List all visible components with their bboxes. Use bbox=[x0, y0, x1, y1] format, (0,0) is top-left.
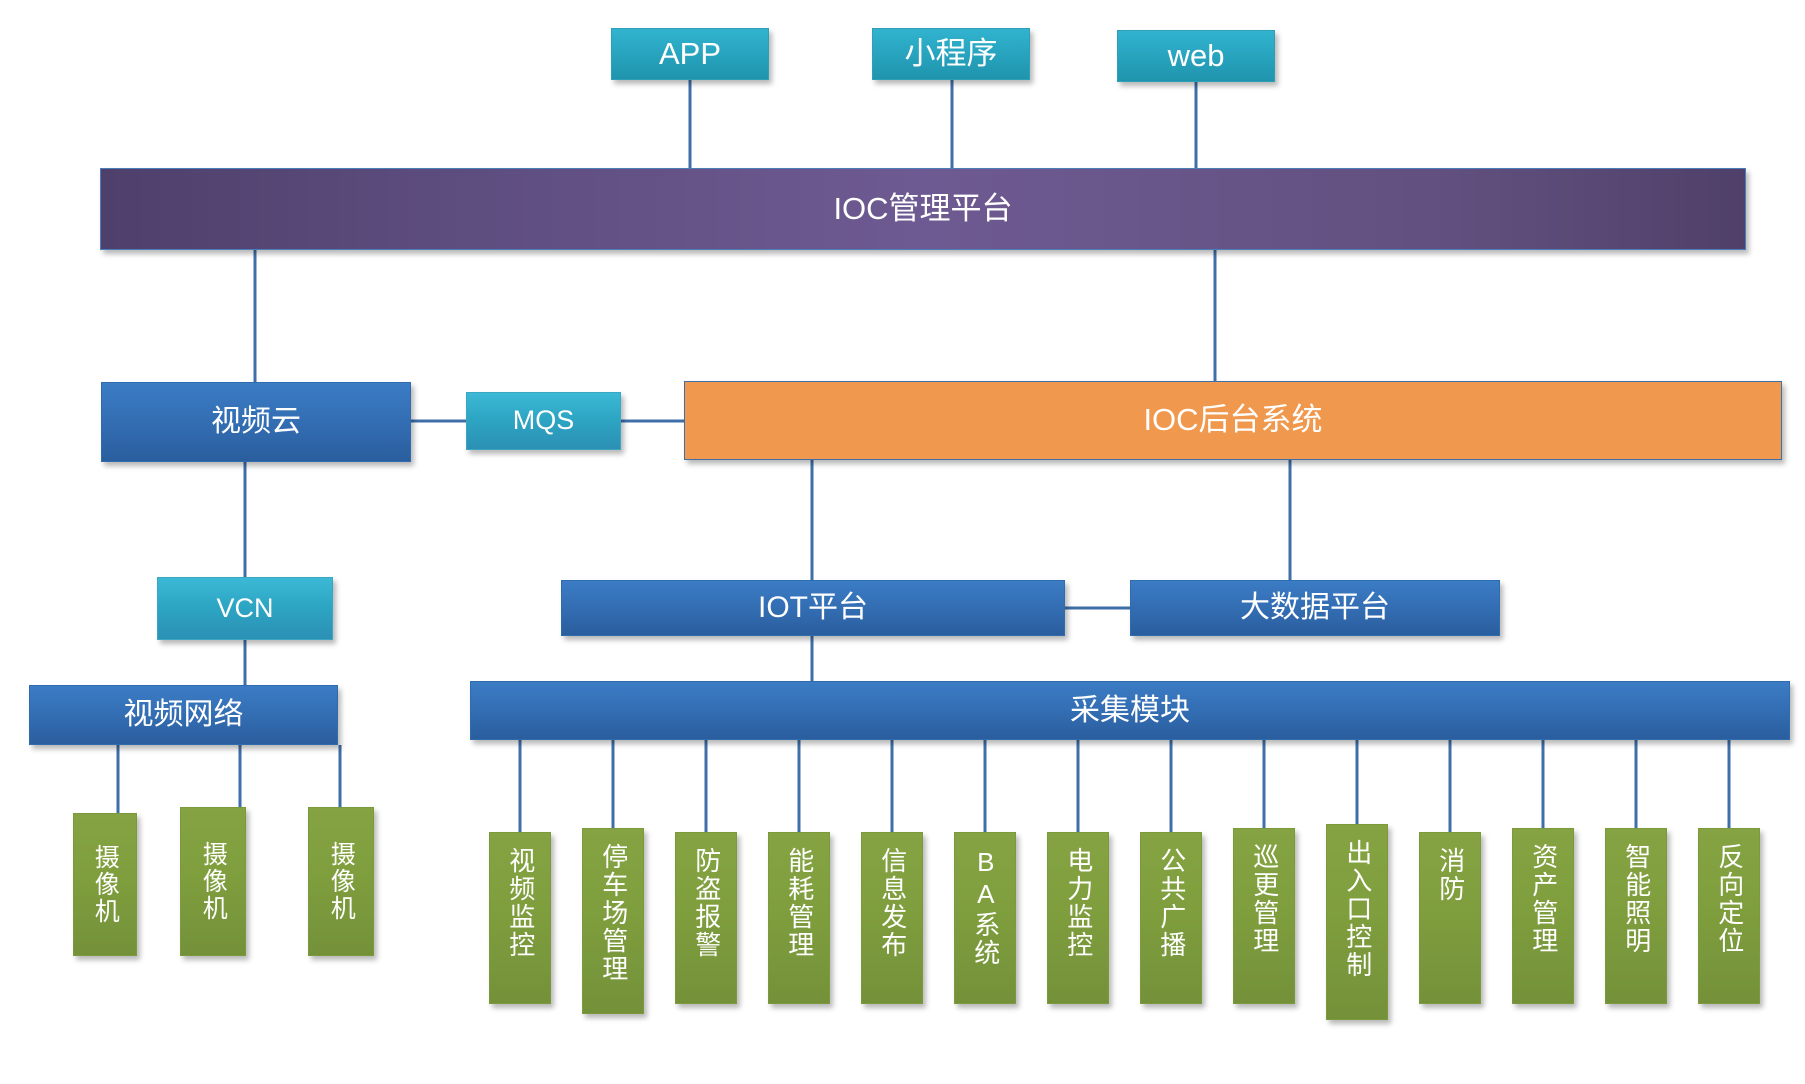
video-cloud-label: 视频云 bbox=[211, 404, 301, 439]
vcn-label: VCN bbox=[216, 593, 273, 625]
client-node-app-label: APP bbox=[659, 36, 721, 73]
video-network-node[interactable]: 视频网络 bbox=[29, 685, 338, 745]
ioc-management-platform[interactable]: IOC管理平台 bbox=[100, 168, 1746, 250]
subsystem-label: 电力监控 bbox=[1064, 847, 1092, 959]
client-node-miniprogram-label: 小程序 bbox=[905, 36, 998, 73]
subsystem-node-power-monitoring[interactable]: 电力监控 bbox=[1047, 832, 1109, 1004]
ioc-backend-label: IOC后台系统 bbox=[1143, 402, 1322, 439]
collection-module-label: 采集模块 bbox=[1070, 693, 1190, 728]
subsystem-label: 信息发布 bbox=[878, 847, 906, 959]
vcn-node[interactable]: VCN bbox=[157, 577, 333, 640]
camera-node-3[interactable]: 摄像机 bbox=[308, 807, 374, 956]
subsystem-label: 反向定位 bbox=[1715, 843, 1743, 955]
subsystem-label: 视频监控 bbox=[506, 847, 534, 959]
mqs-label: MQS bbox=[513, 405, 575, 437]
subsystem-node-parking-management[interactable]: 停车场管理 bbox=[582, 828, 644, 1014]
subsystem-label: 消防 bbox=[1436, 847, 1464, 903]
subsystem-label: 出入口控制 bbox=[1343, 839, 1371, 979]
subsystem-label: 能耗管理 bbox=[785, 847, 813, 959]
collection-module-node[interactable]: 采集模块 bbox=[470, 681, 1790, 740]
subsystem-label: 巡更管理 bbox=[1250, 843, 1278, 955]
architecture-diagram: APP 小程序 web IOC管理平台 视频云 MQS IOC后台系统 VCN … bbox=[0, 0, 1805, 1084]
subsystem-node-smart-lighting[interactable]: 智能照明 bbox=[1605, 828, 1667, 1004]
client-node-miniprogram[interactable]: 小程序 bbox=[872, 28, 1030, 80]
bigdata-platform-label: 大数据平台 bbox=[1240, 590, 1390, 625]
client-node-app[interactable]: APP bbox=[611, 28, 769, 80]
ioc-management-platform-label: IOC管理平台 bbox=[833, 191, 1012, 228]
subsystem-node-access-control[interactable]: 出入口控制 bbox=[1326, 824, 1388, 1020]
video-cloud-node[interactable]: 视频云 bbox=[101, 382, 411, 462]
video-network-label: 视频网络 bbox=[124, 697, 244, 732]
client-node-web-label: web bbox=[1168, 38, 1225, 75]
camera-node-2[interactable]: 摄像机 bbox=[180, 807, 246, 956]
subsystem-node-patrol-management[interactable]: 巡更管理 bbox=[1233, 828, 1295, 1004]
subsystem-label: 智能照明 bbox=[1622, 843, 1650, 955]
iot-platform-label: IOT平台 bbox=[758, 590, 868, 625]
subsystem-node-ba-system[interactable]: BA系统 bbox=[954, 832, 1016, 1004]
subsystem-node-video-surveillance[interactable]: 视频监控 bbox=[489, 832, 551, 1004]
mqs-node[interactable]: MQS bbox=[466, 392, 621, 450]
subsystem-label: 停车场管理 bbox=[599, 843, 627, 983]
bigdata-platform-node[interactable]: 大数据平台 bbox=[1130, 580, 1500, 636]
client-node-web[interactable]: web bbox=[1117, 30, 1275, 82]
camera-node-1-label: 摄像机 bbox=[92, 844, 119, 925]
subsystem-node-public-broadcast[interactable]: 公共广播 bbox=[1140, 832, 1202, 1004]
subsystem-node-asset-management[interactable]: 资产管理 bbox=[1512, 828, 1574, 1004]
subsystem-label: 防盗报警 bbox=[692, 847, 720, 959]
camera-node-1[interactable]: 摄像机 bbox=[73, 813, 137, 956]
subsystem-node-burglar-alarm[interactable]: 防盗报警 bbox=[675, 832, 737, 1004]
camera-node-2-label: 摄像机 bbox=[200, 841, 227, 922]
subsystem-node-fire-protection[interactable]: 消防 bbox=[1419, 832, 1481, 1004]
subsystem-node-reverse-positioning[interactable]: 反向定位 bbox=[1698, 828, 1760, 1004]
subsystem-label: BA系统 bbox=[971, 847, 999, 967]
camera-node-3-label: 摄像机 bbox=[328, 841, 355, 922]
iot-platform-node[interactable]: IOT平台 bbox=[561, 580, 1065, 636]
subsystem-node-energy-management[interactable]: 能耗管理 bbox=[768, 832, 830, 1004]
subsystem-node-information-publishing[interactable]: 信息发布 bbox=[861, 832, 923, 1004]
ioc-backend-node[interactable]: IOC后台系统 bbox=[684, 381, 1782, 460]
subsystem-label: 资产管理 bbox=[1529, 843, 1557, 955]
subsystem-label: 公共广播 bbox=[1157, 847, 1185, 959]
